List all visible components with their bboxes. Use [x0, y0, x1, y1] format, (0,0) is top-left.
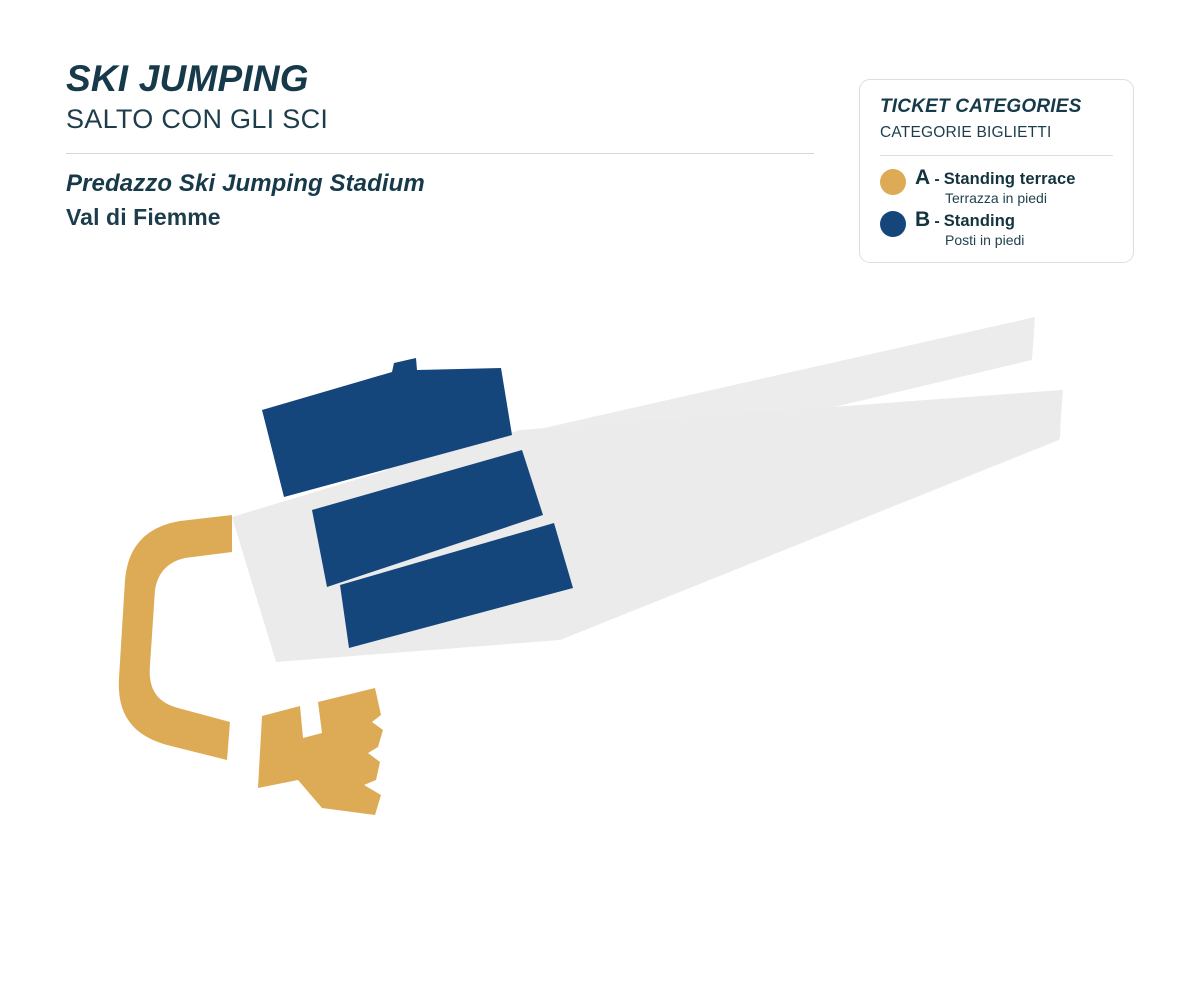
legend-item-a-text: A - Standing terrace Terrazza in piedi	[915, 167, 1076, 206]
venue-name: Predazzo Ski Jumping Stadium	[66, 170, 818, 198]
legend-items: A - Standing terrace Terrazza in piedi B…	[880, 167, 1113, 248]
header-divider	[66, 153, 814, 154]
category-a-swatch-icon	[880, 169, 906, 195]
legend-item-b-dash: -	[934, 214, 939, 231]
header: SKI JUMPING SALTO CON GLI SCI Predazzo S…	[66, 60, 818, 231]
venue-map-svg[interactable]: Predazzo Ski Jumping Stadium seating map	[0, 260, 1200, 880]
page-title: SKI JUMPING	[66, 60, 818, 99]
legend-item-b-code: B	[915, 209, 930, 231]
ticket-categories-legend: TICKET CATEGORIES CATEGORIE BIGLIETTI A …	[859, 79, 1134, 263]
legend-item-b-sublabel: Posti in piedi	[945, 232, 1024, 248]
venue-location: Val di Fiemme	[66, 204, 818, 231]
legend-item-b-text: B - Standing Posti in piedi	[915, 209, 1024, 248]
standing-terrace-lower[interactable]	[258, 688, 383, 815]
legend-item-a-label: Standing terrace	[944, 171, 1076, 188]
category-b-swatch-icon	[880, 211, 906, 237]
venue-map-container[interactable]: Predazzo Ski Jumping Stadium seating map	[0, 260, 1200, 880]
legend-item-b-label: Standing	[944, 213, 1015, 230]
legend-subtitle: CATEGORIE BIGLIETTI	[880, 124, 1113, 142]
legend-item-b[interactable]: B - Standing Posti in piedi	[880, 209, 1113, 248]
venue-map-page: SKI JUMPING SALTO CON GLI SCI Predazzo S…	[0, 0, 1200, 1000]
legend-title: TICKET CATEGORIES	[880, 97, 1113, 118]
page-subtitle: SALTO CON GLI SCI	[66, 103, 818, 137]
legend-item-a-dash: -	[934, 172, 939, 189]
legend-divider	[880, 155, 1113, 156]
legend-item-a-sublabel: Terrazza in piedi	[945, 190, 1076, 206]
legend-item-a-code: A	[915, 167, 930, 189]
standing-terrace-band[interactable]	[119, 515, 232, 760]
legend-item-a[interactable]: A - Standing terrace Terrazza in piedi	[880, 167, 1113, 206]
